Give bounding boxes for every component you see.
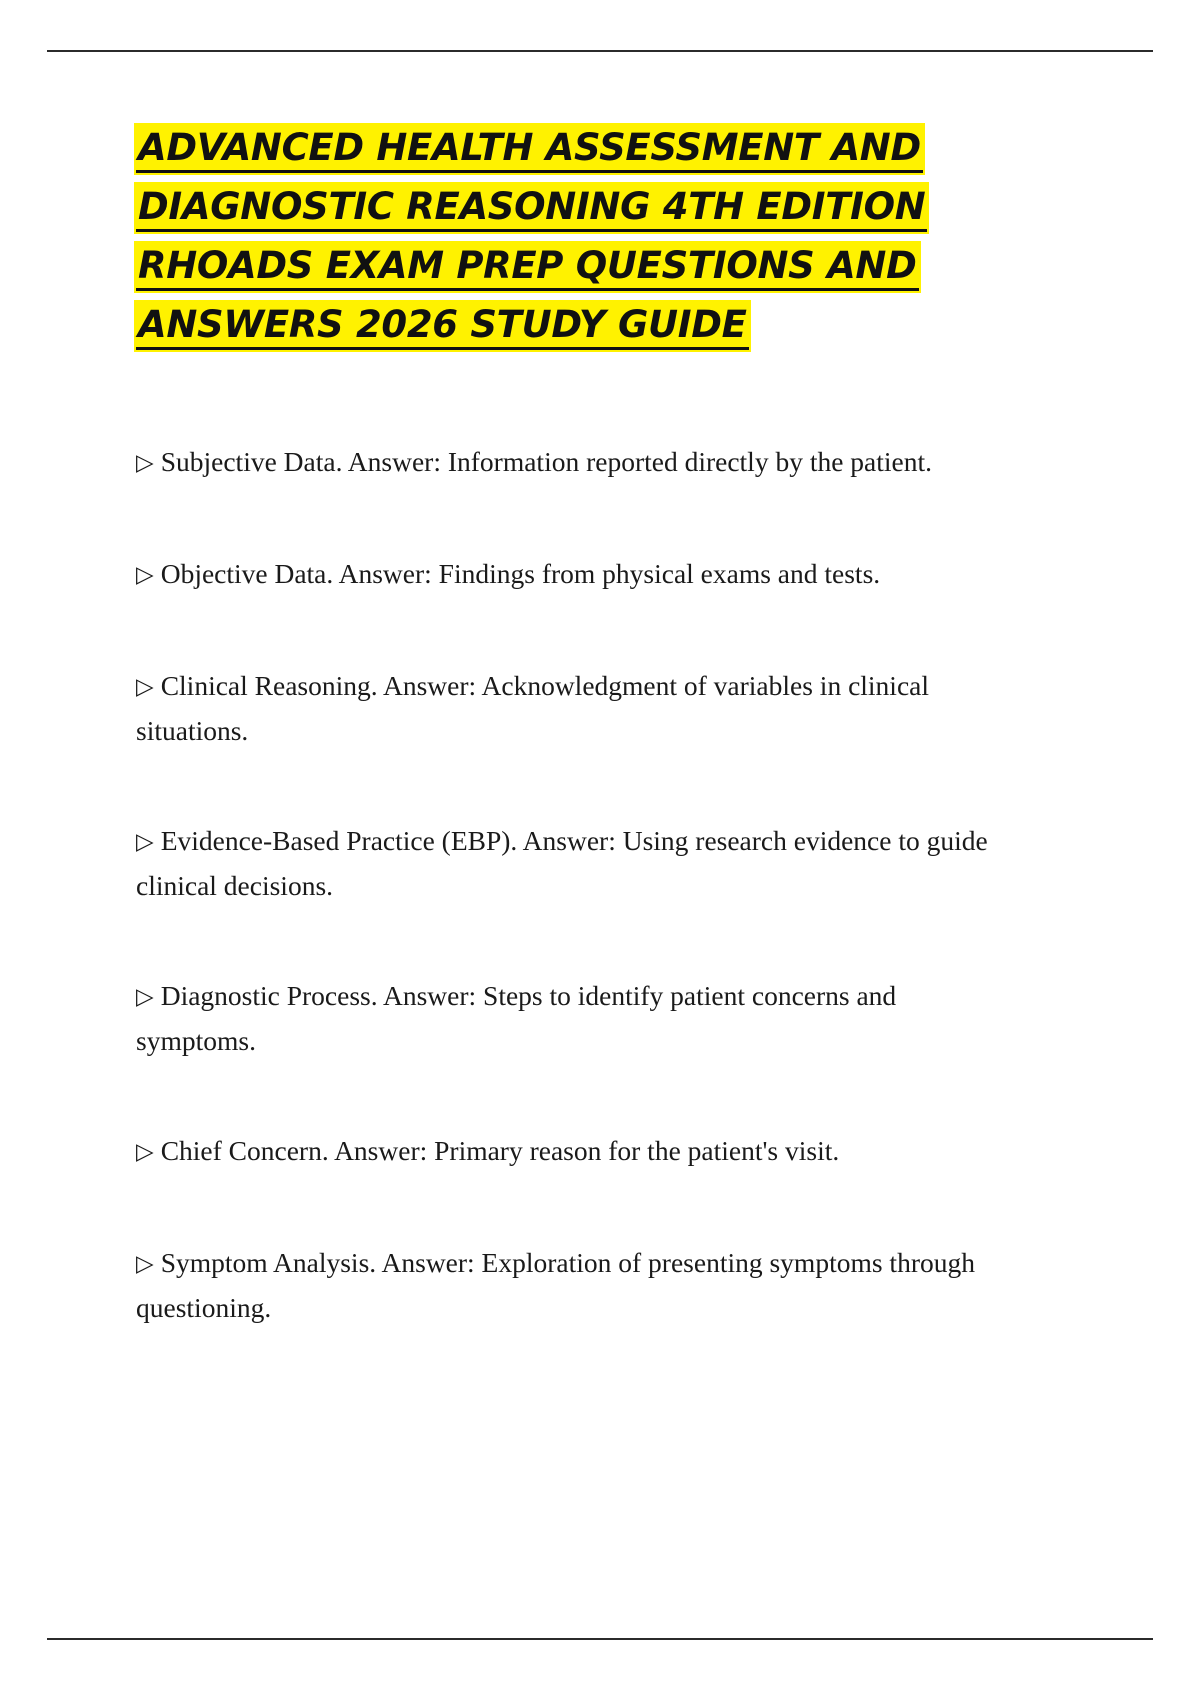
qa-entry-text: Diagnostic Process. Answer: Steps to ide… <box>136 980 896 1056</box>
qa-entry-text: Objective Data. Answer: Findings from ph… <box>161 558 880 589</box>
qa-entry-text: Symptom Analysis. Answer: Exploration of… <box>136 1247 975 1323</box>
list-item: ▷Objective Data. Answer: Findings from p… <box>136 552 1008 597</box>
triangle-bullet-icon: ▷ <box>136 674 161 700</box>
document-content: ADVANCED HEALTH ASSESSMENT AND DIAGNOSTI… <box>136 118 1008 1329</box>
title-line-3: RHOADS EXAM PREP QUESTIONS AND <box>136 236 1008 295</box>
list-item: ▷Evidence-Based Practice (EBP). Answer: … <box>136 819 1008 907</box>
list-item: ▷Diagnostic Process. Answer: Steps to id… <box>136 974 1008 1062</box>
qa-list: ▷Subjective Data. Answer: Information re… <box>136 440 1008 1329</box>
triangle-bullet-icon: ▷ <box>136 1251 161 1277</box>
list-item: ▷Subjective Data. Answer: Information re… <box>136 440 1008 485</box>
triangle-bullet-icon: ▷ <box>136 562 161 588</box>
title-line-1: ADVANCED HEALTH ASSESSMENT AND <box>136 118 1008 177</box>
triangle-bullet-icon: ▷ <box>136 984 161 1010</box>
qa-entry-text: Chief Concern. Answer: Primary reason fo… <box>161 1135 840 1166</box>
qa-entry-text: Evidence-Based Practice (EBP). Answer: U… <box>136 825 988 901</box>
triangle-bullet-icon: ▷ <box>136 450 161 476</box>
list-item: ▷Symptom Analysis. Answer: Exploration o… <box>136 1241 1008 1329</box>
list-item: ▷Clinical Reasoning. Answer: Acknowledgm… <box>136 664 1008 752</box>
page-title: ADVANCED HEALTH ASSESSMENT AND DIAGNOSTI… <box>136 118 1008 354</box>
title-line-4-highlight: ANSWERS 2026 STUDY GUIDE <box>136 302 749 350</box>
list-item: ▷Chief Concern. Answer: Primary reason f… <box>136 1129 1008 1174</box>
title-line-3-highlight: RHOADS EXAM PREP QUESTIONS AND <box>136 243 919 291</box>
page-top-rule <box>47 50 1153 52</box>
qa-entry-text: Subjective Data. Answer: Information rep… <box>161 446 932 477</box>
document-page: ADVANCED HEALTH ASSESSMENT AND DIAGNOSTI… <box>0 0 1200 1700</box>
page-bottom-rule <box>47 1638 1153 1640</box>
title-line-4: ANSWERS 2026 STUDY GUIDE <box>136 295 1008 354</box>
title-line-2-highlight: DIAGNOSTIC REASONING 4TH EDITION <box>136 184 927 232</box>
title-line-1-highlight: ADVANCED HEALTH ASSESSMENT AND <box>136 125 923 173</box>
qa-entry-text: Clinical Reasoning. Answer: Acknowledgme… <box>136 670 929 746</box>
title-line-2: DIAGNOSTIC REASONING 4TH EDITION <box>136 177 1008 236</box>
triangle-bullet-icon: ▷ <box>136 1139 161 1165</box>
triangle-bullet-icon: ▷ <box>136 829 161 855</box>
